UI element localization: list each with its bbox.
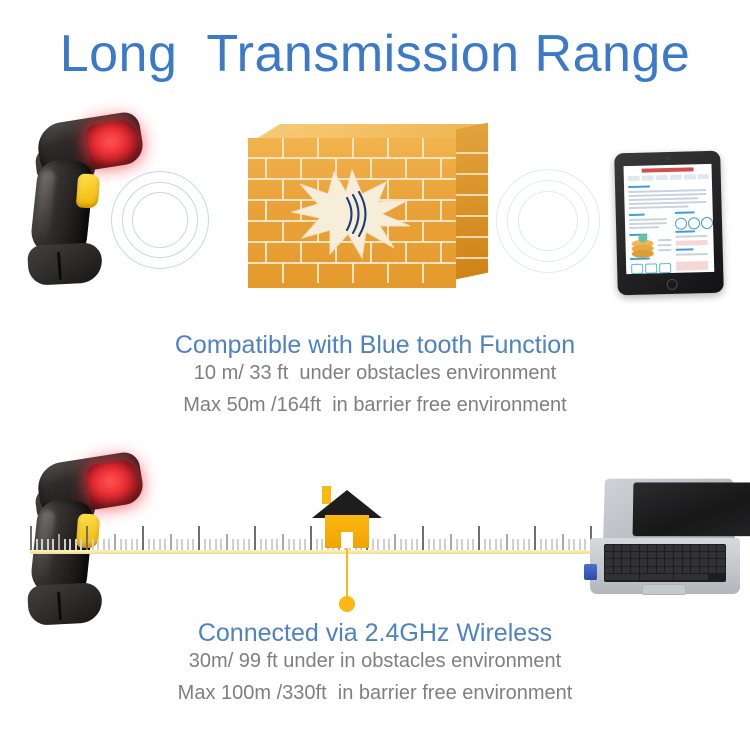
ruler-tick [41, 539, 43, 550]
ruler-tick [388, 539, 390, 550]
laptop-key [648, 545, 656, 551]
map-pin-dot [339, 596, 355, 612]
ruler-tick [461, 539, 463, 550]
ruler-tick [52, 539, 54, 550]
laptop-key [605, 574, 639, 580]
laptop-key [709, 559, 717, 565]
ruler-tick [450, 534, 452, 550]
screen-icon-circle [701, 217, 713, 229]
laptop-key [614, 567, 622, 573]
tablet-device [614, 151, 724, 296]
laptop-key [622, 545, 630, 551]
ruler-tick [64, 539, 66, 550]
signal-rings-right [495, 168, 600, 273]
ruler-tick [86, 526, 88, 550]
laptop-key [709, 567, 717, 573]
ruler-tick [97, 539, 99, 550]
laptop-key [640, 574, 674, 580]
ruler-tick [416, 539, 418, 550]
laptop-key [717, 545, 725, 551]
ruler-tick [506, 534, 508, 550]
ruler-tick [433, 539, 435, 550]
ruler-tick [293, 539, 295, 550]
laptop-key [648, 552, 656, 558]
laptop-key [717, 567, 725, 573]
ruler-tick [422, 526, 424, 550]
laptop-key [691, 545, 699, 551]
section-2-line-2: Max 100m /330ft in barrier free environm… [0, 682, 750, 705]
ruler-tick [495, 539, 497, 550]
laptop-key [648, 567, 656, 573]
laptop-key [631, 552, 639, 558]
signal-rings-left [110, 170, 210, 270]
laptop-key [674, 552, 682, 558]
laptop-screen [633, 482, 750, 536]
section-2-headline: Connected via 2.4GHz Wireless [0, 619, 750, 648]
ruler-tick [528, 539, 530, 550]
ruler-tick [142, 526, 144, 550]
laptop-key [605, 559, 613, 565]
laptop-key [674, 559, 682, 565]
ruler-tick [517, 539, 519, 550]
laptop-key [709, 552, 717, 558]
laptop-key [665, 545, 673, 551]
tablet-home-button [666, 279, 677, 290]
map-pin-line [346, 548, 348, 600]
section-2-line-1: 30m/ 99 ft under in obstacles environmen… [0, 650, 750, 673]
laptop-key [640, 552, 648, 558]
ruler-tick [187, 539, 189, 550]
ruler-tick [428, 539, 430, 550]
ruler-tick [248, 539, 250, 550]
ruler-tick [573, 539, 575, 550]
laptop-key [605, 545, 613, 551]
laptop-key [657, 545, 665, 551]
screen-page-title-bar [642, 167, 694, 172]
laptop-key [614, 552, 622, 558]
ruler-tick [467, 539, 469, 550]
laser-glow [76, 454, 148, 512]
laptop-key [709, 545, 717, 551]
laptop-key [683, 545, 691, 551]
ruler-tick [176, 539, 178, 550]
ruler-tick [383, 539, 385, 550]
tablet-screen [623, 164, 714, 274]
ruler-tick [556, 539, 558, 550]
ruler-tick [209, 539, 211, 550]
usb-dongle-icon [584, 564, 597, 580]
laptop-key [614, 545, 622, 551]
laptop-key [631, 545, 639, 551]
laptop-key [674, 567, 682, 573]
ruler-tick [276, 539, 278, 550]
ruler-tick [551, 539, 553, 550]
ruler-tick [472, 539, 474, 550]
house-marker-icon [312, 486, 382, 548]
ruler-tick [237, 539, 239, 550]
laptop-key [700, 559, 708, 565]
ruler-tick [120, 539, 122, 550]
signal-burst-icon [290, 168, 414, 260]
ruler-tick [232, 539, 234, 550]
laser-glow [76, 114, 148, 172]
ruler-tick [405, 539, 407, 550]
ruler-tick [394, 534, 396, 550]
laptop-key [683, 559, 691, 565]
ruler-tick [444, 539, 446, 550]
ruler-tick [540, 539, 542, 550]
ruler-tick [75, 539, 77, 550]
ruler-tick [198, 526, 200, 550]
scanner-trigger [76, 173, 100, 208]
ruler-tick [226, 534, 228, 550]
laptop-key [648, 559, 656, 565]
laptop-key [717, 559, 725, 565]
laptop-key [657, 552, 665, 558]
ruler-tick [170, 534, 172, 550]
ruler-baseline [30, 550, 612, 554]
ruler-tick [92, 539, 94, 550]
brick-wall-obstacle [248, 124, 493, 289]
ruler-tick [192, 539, 194, 550]
laptop-trackpad [642, 584, 686, 595]
laptop-key [691, 552, 699, 558]
ruler-tick [153, 539, 155, 550]
ruler-tick [69, 539, 71, 550]
ruler-tick [534, 526, 536, 550]
ruler-tick [36, 539, 38, 550]
ruler-tick [299, 539, 301, 550]
ruler-tick [204, 539, 206, 550]
ruler-tick [500, 539, 502, 550]
laptop-key [665, 567, 673, 573]
laptop-key [657, 567, 665, 573]
scanner-base [27, 242, 103, 286]
laptop-key [665, 552, 673, 558]
laptop-key [700, 552, 708, 558]
ruler-tick [568, 539, 570, 550]
infographic-canvas: Long Transmission Range [0, 0, 750, 750]
ruler-tick [114, 534, 116, 550]
ruler-tick [164, 539, 166, 550]
ruler-tick [80, 539, 82, 550]
ruler-tick [484, 539, 486, 550]
laptop-key [622, 567, 630, 573]
laptop-key [640, 559, 648, 565]
ruler-tick [545, 539, 547, 550]
ruler-tick [148, 539, 150, 550]
ruler-tick [108, 539, 110, 550]
laptop-lid [603, 479, 735, 541]
ruler-tick [254, 526, 256, 550]
laptop-key [683, 567, 691, 573]
ruler-tick [282, 534, 284, 550]
ruler-tick [159, 539, 161, 550]
page-title: Long Transmission Range [0, 24, 750, 84]
ruler-tick [103, 539, 105, 550]
ruler-tick [58, 534, 60, 550]
ruler-tick [30, 526, 32, 550]
ruler-tick [260, 539, 262, 550]
laptop-key [605, 567, 613, 573]
ruler-tick [136, 539, 138, 550]
ruler-tick [439, 539, 441, 550]
ruler-tick [265, 539, 267, 550]
ruler-tick [304, 539, 306, 550]
ruler-tick [456, 539, 458, 550]
laptop-key [691, 559, 699, 565]
laptop-key [622, 552, 630, 558]
laptop-key [665, 559, 673, 565]
ruler-tick [523, 539, 525, 550]
laptop-key [683, 552, 691, 558]
laptop-key [657, 559, 665, 565]
section-1-line-2: Max 50m /164ft in barrier free environme… [0, 394, 750, 417]
laptop-key [605, 552, 613, 558]
laptop-key [700, 567, 708, 573]
ruler-tick [512, 539, 514, 550]
ruler-tick [562, 534, 564, 550]
screen-icon-circle [688, 217, 700, 229]
laptop-key [631, 567, 639, 573]
laptop-keyboard [604, 544, 726, 582]
ruler-tick [181, 539, 183, 550]
tablet-camera [666, 157, 669, 160]
ruler-tick [489, 539, 491, 550]
laptop-key [674, 545, 682, 551]
section-1-headline: Compatible with Blue tooth Function [0, 331, 750, 360]
ruler-tick [243, 539, 245, 550]
laptop-key [691, 567, 699, 573]
ruler-tick [271, 539, 273, 550]
ruler-tick [478, 526, 480, 550]
laptop-computer [580, 478, 740, 608]
house-roof [312, 490, 382, 518]
ruler-tick [215, 539, 217, 550]
laptop-key [614, 559, 622, 565]
ruler-tick [131, 539, 133, 550]
ruler-tick [47, 539, 49, 550]
ruler-tick [400, 539, 402, 550]
laptop-key [640, 567, 648, 573]
laptop-key [631, 559, 639, 565]
laptop-key [640, 545, 648, 551]
house-door [341, 532, 353, 548]
laptop-key [700, 545, 708, 551]
ruler-tick [220, 539, 222, 550]
laptop-key [674, 574, 708, 580]
laptop-key [622, 559, 630, 565]
screen-icon-circle [675, 218, 687, 230]
section-1-line-1: 10 m/ 33 ft under obstacles environment [0, 362, 750, 385]
ruler-tick [288, 539, 290, 550]
laptop-key [717, 552, 725, 558]
wall-side-mortar [456, 126, 488, 278]
ruler-tick [411, 539, 413, 550]
ruler-tick [125, 539, 127, 550]
